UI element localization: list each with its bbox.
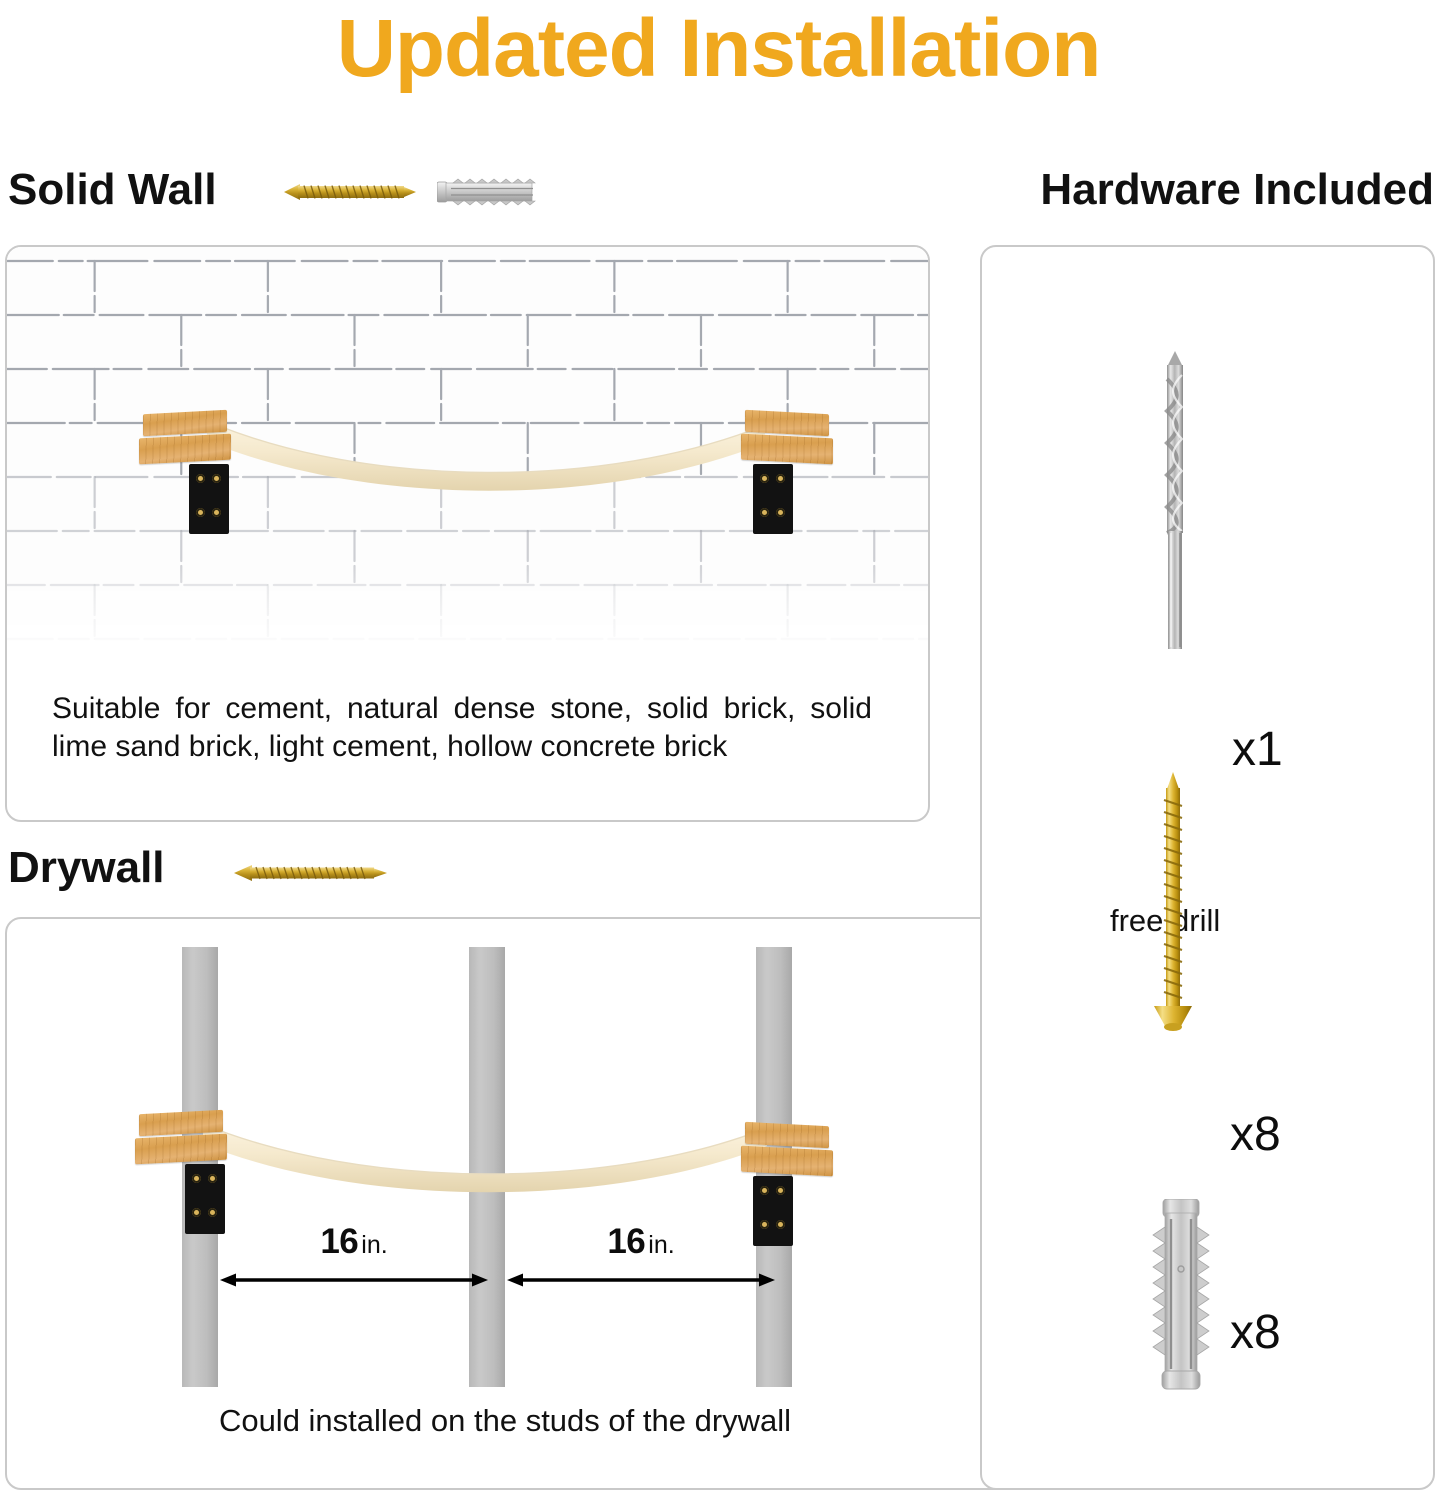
dimension-value: 16 (607, 1222, 645, 1261)
drill-bit-icon (1160, 351, 1190, 656)
dimension-arrow-right (507, 1270, 775, 1290)
page-title: Updated Installation (0, 6, 1437, 92)
screw-icon (1152, 772, 1194, 1043)
dimension-arrow-left (220, 1270, 488, 1290)
section-heading-drywall: Drywall (8, 846, 165, 890)
mounting-plate-left (185, 1164, 225, 1234)
fabric-sling (203, 1122, 769, 1202)
hardware-count-screw: x8 (1230, 1107, 1281, 1162)
mounting-plate-right (753, 464, 793, 534)
dimension-value: 16 (320, 1222, 358, 1261)
section-heading-hardware: Hardware Included (1040, 168, 1434, 212)
wall-anchor-icon (437, 178, 541, 211)
dimension-unit: in. (361, 1231, 387, 1259)
section-heading-solid-wall: Solid Wall (8, 168, 217, 212)
fabric-sling (207, 419, 767, 499)
solid-wall-description: Suitable for cement, natural dense stone… (52, 690, 872, 767)
hardware-count-drill: x1 (1232, 722, 1283, 777)
hardware-count-anchor: x8 (1230, 1305, 1281, 1360)
dimension-unit: in. (648, 1231, 674, 1259)
drywall-caption: Could installed on the studs of the dryw… (0, 1403, 1010, 1439)
screw-icon (284, 181, 418, 208)
screw-icon (234, 862, 389, 889)
mounting-plate-left (189, 464, 229, 534)
hardware-panel: x1 free drill (980, 245, 1435, 1490)
wall-anchor-icon (1149, 1199, 1213, 1404)
